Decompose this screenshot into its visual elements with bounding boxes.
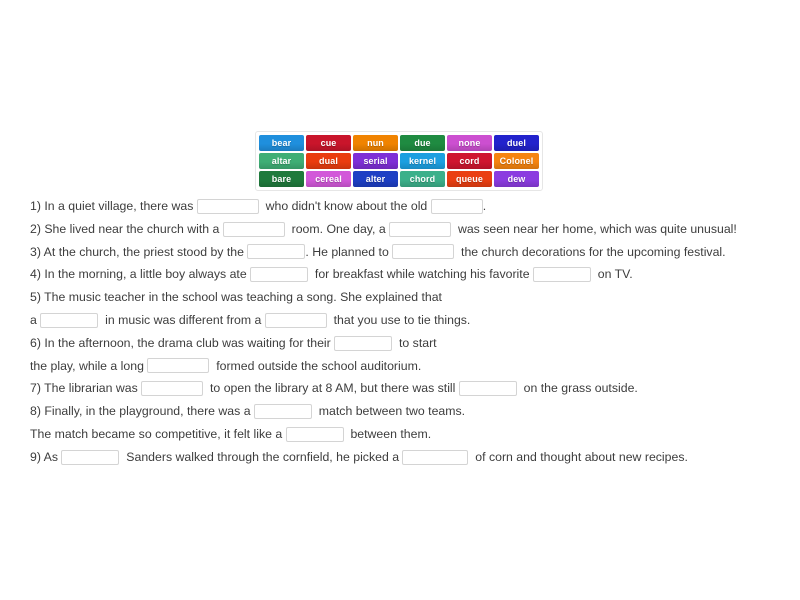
word-bank-tile-duel[interactable]: duel xyxy=(494,135,539,151)
sentence-text: 7) The librarian was xyxy=(30,377,141,400)
answer-blank[interactable] xyxy=(254,404,312,419)
answer-blank[interactable] xyxy=(141,381,203,396)
sentence-line: 1) In a quiet village, there was who did… xyxy=(30,195,775,218)
sentence-text: 5) The music teacher in the school was t… xyxy=(30,286,442,309)
sentence-text: to start xyxy=(392,332,436,355)
sentence-line: 8) Finally, in the playground, there was… xyxy=(30,400,775,423)
sentence-text: who didn't know about the old xyxy=(259,195,431,218)
word-bank-row: bearcuenunduenoneduel xyxy=(259,135,539,151)
sentence-text: formed outside the school auditorium. xyxy=(209,355,421,378)
sentence-text: . He planned to xyxy=(305,241,392,264)
sentence-line: a in music was different from a that you… xyxy=(30,309,775,332)
word-bank-tile-dew[interactable]: dew xyxy=(494,171,539,187)
answer-blank[interactable] xyxy=(147,358,209,373)
sentence-text: Sanders walked through the cornfield, he… xyxy=(119,446,402,469)
answer-blank[interactable] xyxy=(334,336,392,351)
answer-blank[interactable] xyxy=(389,222,451,237)
word-bank-tile-bear[interactable]: bear xyxy=(259,135,304,151)
sentence-text: to open the library at 8 AM, but there w… xyxy=(203,377,459,400)
sentence-line: 3) At the church, the priest stood by th… xyxy=(30,241,775,264)
word-bank: bearcuenunduenoneduelaltardualserialkern… xyxy=(255,131,543,191)
sentence-text: match between two teams. xyxy=(312,400,465,423)
answer-blank[interactable] xyxy=(40,313,98,328)
sentence-text: on the grass outside. xyxy=(517,377,638,400)
word-bank-tile-cord[interactable]: cord xyxy=(447,153,492,169)
sentence-text: 6) In the afternoon, the drama club was … xyxy=(30,332,334,355)
word-bank-tile-bare[interactable]: bare xyxy=(259,171,304,187)
sentence-text: 8) Finally, in the playground, there was… xyxy=(30,400,254,423)
word-bank-tile-due[interactable]: due xyxy=(400,135,445,151)
word-bank-tile-none[interactable]: none xyxy=(447,135,492,151)
sentence-line: The match became so competitive, it felt… xyxy=(30,423,775,446)
sentence-text: room. One day, a xyxy=(285,218,389,241)
sentence-text: between them. xyxy=(344,423,432,446)
word-bank-tile-chord[interactable]: chord xyxy=(400,171,445,187)
answer-blank[interactable] xyxy=(459,381,517,396)
answer-blank[interactable] xyxy=(402,450,468,465)
sentence-text: the church decorations for the upcoming … xyxy=(454,241,725,264)
word-bank-tile-altar[interactable]: altar xyxy=(259,153,304,169)
sentence-text: 3) At the church, the priest stood by th… xyxy=(30,241,247,264)
sentence-text: a xyxy=(30,309,40,332)
answer-blank[interactable] xyxy=(431,199,483,214)
sentence-text: 1) In a quiet village, there was xyxy=(30,195,197,218)
sentence-text: . xyxy=(483,195,486,218)
answer-blank[interactable] xyxy=(265,313,327,328)
sentence-line: 7) The librarian was to open the library… xyxy=(30,377,775,400)
answer-blank[interactable] xyxy=(286,427,344,442)
word-bank-tile-dual[interactable]: dual xyxy=(306,153,351,169)
sentence-line: the play, while a long formed outside th… xyxy=(30,355,775,378)
sentence-text: for breakfast while watching his favorit… xyxy=(308,263,533,286)
sentence-text: of corn and thought about new recipes. xyxy=(468,446,687,469)
word-bank-tile-cue[interactable]: cue xyxy=(306,135,351,151)
sentence-line: 2) She lived near the church with a room… xyxy=(30,218,775,241)
sentence-line: 6) In the afternoon, the drama club was … xyxy=(30,332,775,355)
sentence-text: was seen near her home, which was quite … xyxy=(451,218,737,241)
word-bank-tile-cereal[interactable]: cereal xyxy=(306,171,351,187)
answer-blank[interactable] xyxy=(250,267,308,282)
word-bank-row: altardualserialkernelcordColonel xyxy=(259,153,539,169)
sentence-text: The match became so competitive, it felt… xyxy=(30,423,286,446)
sentence-text: the play, while a long xyxy=(30,355,147,378)
word-bank-tile-queue[interactable]: queue xyxy=(447,171,492,187)
answer-blank[interactable] xyxy=(61,450,119,465)
sentence-text: 9) As xyxy=(30,446,61,469)
answer-blank[interactable] xyxy=(197,199,259,214)
sentence-line: 5) The music teacher in the school was t… xyxy=(30,286,775,309)
answer-blank[interactable] xyxy=(392,244,454,259)
word-bank-tile-colonel[interactable]: Colonel xyxy=(494,153,539,169)
word-bank-tile-nun[interactable]: nun xyxy=(353,135,398,151)
answer-blank[interactable] xyxy=(247,244,305,259)
answer-blank[interactable] xyxy=(223,222,285,237)
word-bank-row: barecerealalterchordqueuedew xyxy=(259,171,539,187)
sentence-text: 4) In the morning, a little boy always a… xyxy=(30,263,250,286)
word-bank-tile-kernel[interactable]: kernel xyxy=(400,153,445,169)
sentence-line: 9) As Sanders walked through the cornfie… xyxy=(30,446,775,469)
sentence-line: 4) In the morning, a little boy always a… xyxy=(30,263,775,286)
sentence-text: in music was different from a xyxy=(98,309,265,332)
word-bank-tile-serial[interactable]: serial xyxy=(353,153,398,169)
sentence-text: that you use to tie things. xyxy=(327,309,471,332)
sentence-text: on TV. xyxy=(591,263,633,286)
word-bank-tile-alter[interactable]: alter xyxy=(353,171,398,187)
sentence-list: 1) In a quiet village, there was who did… xyxy=(30,195,775,469)
sentence-text: 2) She lived near the church with a xyxy=(30,218,223,241)
answer-blank[interactable] xyxy=(533,267,591,282)
